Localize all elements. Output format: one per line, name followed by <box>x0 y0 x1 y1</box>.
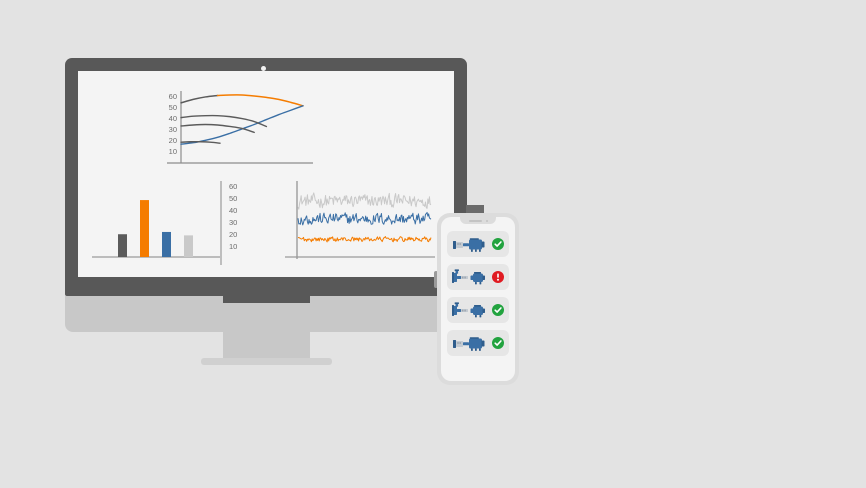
monitor-screen: 60 50 40 30 20 10 60 5 <box>78 71 454 277</box>
phone-body <box>437 213 519 385</box>
arc-tick-50: 50 <box>169 103 177 112</box>
desktop-monitor: 60 50 40 30 20 10 60 5 <box>65 58 467 296</box>
arc-tick-30: 30 <box>169 125 177 134</box>
check-circle-icon <box>492 304 504 316</box>
bar-tick-40: 40 <box>229 206 237 215</box>
speaker-icon <box>469 220 482 222</box>
check-circle-icon <box>492 337 504 349</box>
check-circle-icon <box>492 238 504 250</box>
bar-tick-10: 10 <box>229 242 237 251</box>
stand-top <box>223 294 310 303</box>
stand-base <box>201 358 332 365</box>
motor-pump-icon <box>452 335 490 352</box>
phone-notch <box>460 217 496 224</box>
asset-card-asset-3[interactable] <box>447 297 509 323</box>
stand-column <box>223 303 310 359</box>
monitor-stand <box>65 294 467 384</box>
motor-pump-icon <box>452 236 490 253</box>
bar-chart: 60 50 40 30 20 10 <box>90 179 270 269</box>
illustration-stage: 60 50 40 30 20 10 60 5 <box>0 0 866 488</box>
alert-circle-icon <box>492 271 504 283</box>
arc-tick-20: 20 <box>169 136 177 145</box>
valve-pump-icon <box>452 302 490 319</box>
timeseries-chart <box>283 179 443 269</box>
smartphone <box>437 213 519 385</box>
bar-tick-30: 30 <box>229 218 237 227</box>
arc-tick-40: 40 <box>169 114 177 123</box>
bar-tick-60: 60 <box>229 182 237 191</box>
front-camera-icon <box>486 220 488 222</box>
timeseries-lines <box>298 193 431 242</box>
asset-card-asset-4[interactable] <box>447 330 509 356</box>
arc-chart-curves <box>181 95 303 144</box>
phone-screen <box>441 217 515 381</box>
arc-tick-10: 10 <box>169 147 177 156</box>
asset-card-asset-1[interactable] <box>447 231 509 257</box>
valve-pump-icon <box>452 269 490 286</box>
arc-chart: 60 50 40 30 20 10 <box>153 89 343 177</box>
bar-tick-50: 50 <box>229 194 237 203</box>
bar-tick-20: 20 <box>229 230 237 239</box>
bar-chart-bars <box>118 200 193 257</box>
arc-tick-60: 60 <box>169 92 177 101</box>
asset-card-asset-2[interactable] <box>447 264 509 290</box>
